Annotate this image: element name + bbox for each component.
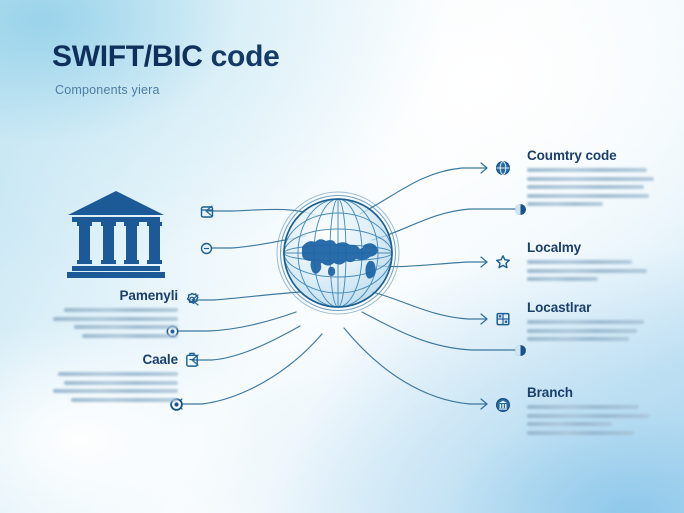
label-right-2-heading: Locastlrar: [527, 300, 649, 315]
label-left-1: Caale: [48, 352, 178, 406]
connector-right-6: [344, 328, 487, 404]
label-right-0-heading: Coumtry code: [527, 148, 649, 163]
globe-icon: [268, 183, 408, 323]
infographic-canvas: SWIFT/BIC code Components yiera: [0, 0, 684, 513]
body-text-line: [527, 185, 644, 189]
label-left-0: Pamenyli: [48, 288, 178, 342]
body-text-line: [74, 325, 178, 329]
circle-filled-icon: [514, 203, 527, 216]
bank-small-icon: [495, 397, 511, 413]
label-left-0-heading: Pamenyli: [48, 288, 178, 303]
body-text-line: [71, 398, 178, 402]
square-icon: [199, 204, 215, 220]
body-text-line: [527, 269, 647, 273]
gear-icon: [184, 292, 201, 309]
body-text-line: [64, 381, 178, 385]
label-right-3-heading: Branch: [527, 385, 649, 400]
label-right-1-body: [527, 260, 649, 281]
arrowhead-right-1: [481, 163, 487, 173]
body-text-line: [64, 308, 178, 312]
body-text-line: [527, 202, 603, 206]
label-left-0-body: [48, 308, 178, 338]
page-title: SWIFT/BIC code: [52, 40, 280, 74]
title-light: code: [211, 40, 280, 73]
connector-left-6: [176, 334, 322, 404]
body-text-line: [527, 168, 647, 172]
clipboard-icon: [184, 352, 200, 369]
label-right-0: Coumtry code: [527, 148, 649, 211]
body-text-line: [527, 431, 634, 435]
label-right-3: Branch: [527, 385, 649, 439]
label-right-2: Locastlrar: [527, 300, 649, 346]
arrowhead-right-3: [481, 257, 487, 267]
body-text-line: [527, 260, 632, 264]
arrowhead-right-4: [481, 314, 487, 324]
body-text-line: [527, 414, 649, 418]
label-left-1-heading: Caale: [48, 352, 178, 367]
label-right-1-heading: Localmy: [527, 240, 649, 255]
body-text-line: [527, 422, 612, 426]
body-text-line: [527, 337, 629, 341]
label-right-3-body: [527, 405, 649, 435]
body-text-line: [527, 177, 654, 181]
connector-left-5: [192, 326, 300, 360]
label-right-1: Localmy: [527, 240, 649, 286]
body-text-line: [53, 389, 178, 393]
label-right-2-body: [527, 320, 649, 341]
title-bold: SWIFT/BIC: [52, 40, 203, 73]
label-left-1-body: [48, 372, 178, 402]
body-text-line: [527, 320, 644, 324]
globe-small-icon: [495, 160, 511, 176]
body-text-line: [527, 194, 649, 198]
body-text-line: [82, 334, 178, 338]
circle-filled-icon: [514, 344, 527, 357]
circle-dot-icon: [200, 242, 213, 255]
body-text-line: [527, 405, 639, 409]
body-text-line: [58, 372, 178, 376]
body-text-line: [53, 317, 178, 321]
arrowhead-right-6: [481, 399, 487, 409]
bank-building-icon: [64, 188, 168, 280]
building-grid-icon: [495, 311, 511, 327]
label-right-0-body: [527, 168, 649, 206]
star-icon: [495, 254, 511, 270]
page-subtitle: Components yiera: [55, 83, 160, 97]
body-text-line: [527, 329, 637, 333]
body-text-line: [527, 277, 598, 281]
